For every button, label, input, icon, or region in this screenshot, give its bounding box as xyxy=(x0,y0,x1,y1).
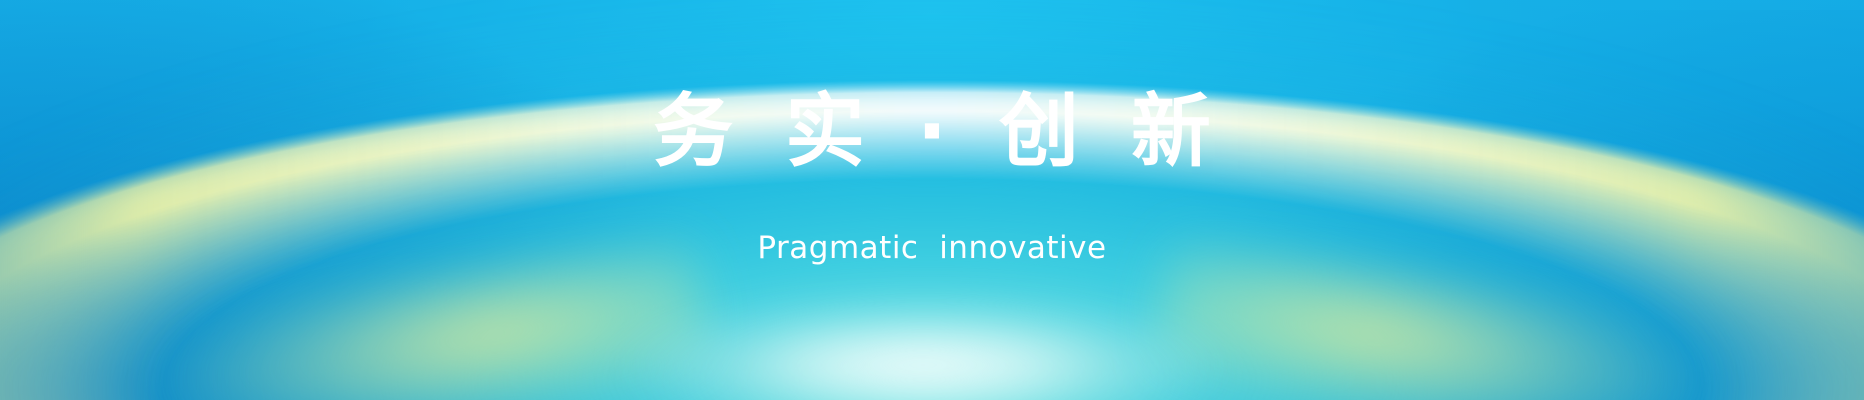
banner-content: 务 实 · 创 新 Pragmatic innovative xyxy=(0,0,1864,400)
hero-banner: 务 实 · 创 新 Pragmatic innovative xyxy=(0,0,1864,400)
banner-subheadline: Pragmatic innovative xyxy=(0,231,1864,265)
banner-headline: 务 实 · 创 新 xyxy=(0,92,1864,172)
arc-teal-haze xyxy=(0,0,1864,400)
background-shade-bottom-left xyxy=(0,0,760,400)
arc-white-highlight xyxy=(613,300,1233,400)
arc-yellow-tail-left xyxy=(139,237,722,400)
background-shade-bottom-right xyxy=(1204,10,1864,400)
arc-yellow-tail-right xyxy=(1143,237,1726,400)
glowing-horizon-arc xyxy=(0,80,1864,400)
